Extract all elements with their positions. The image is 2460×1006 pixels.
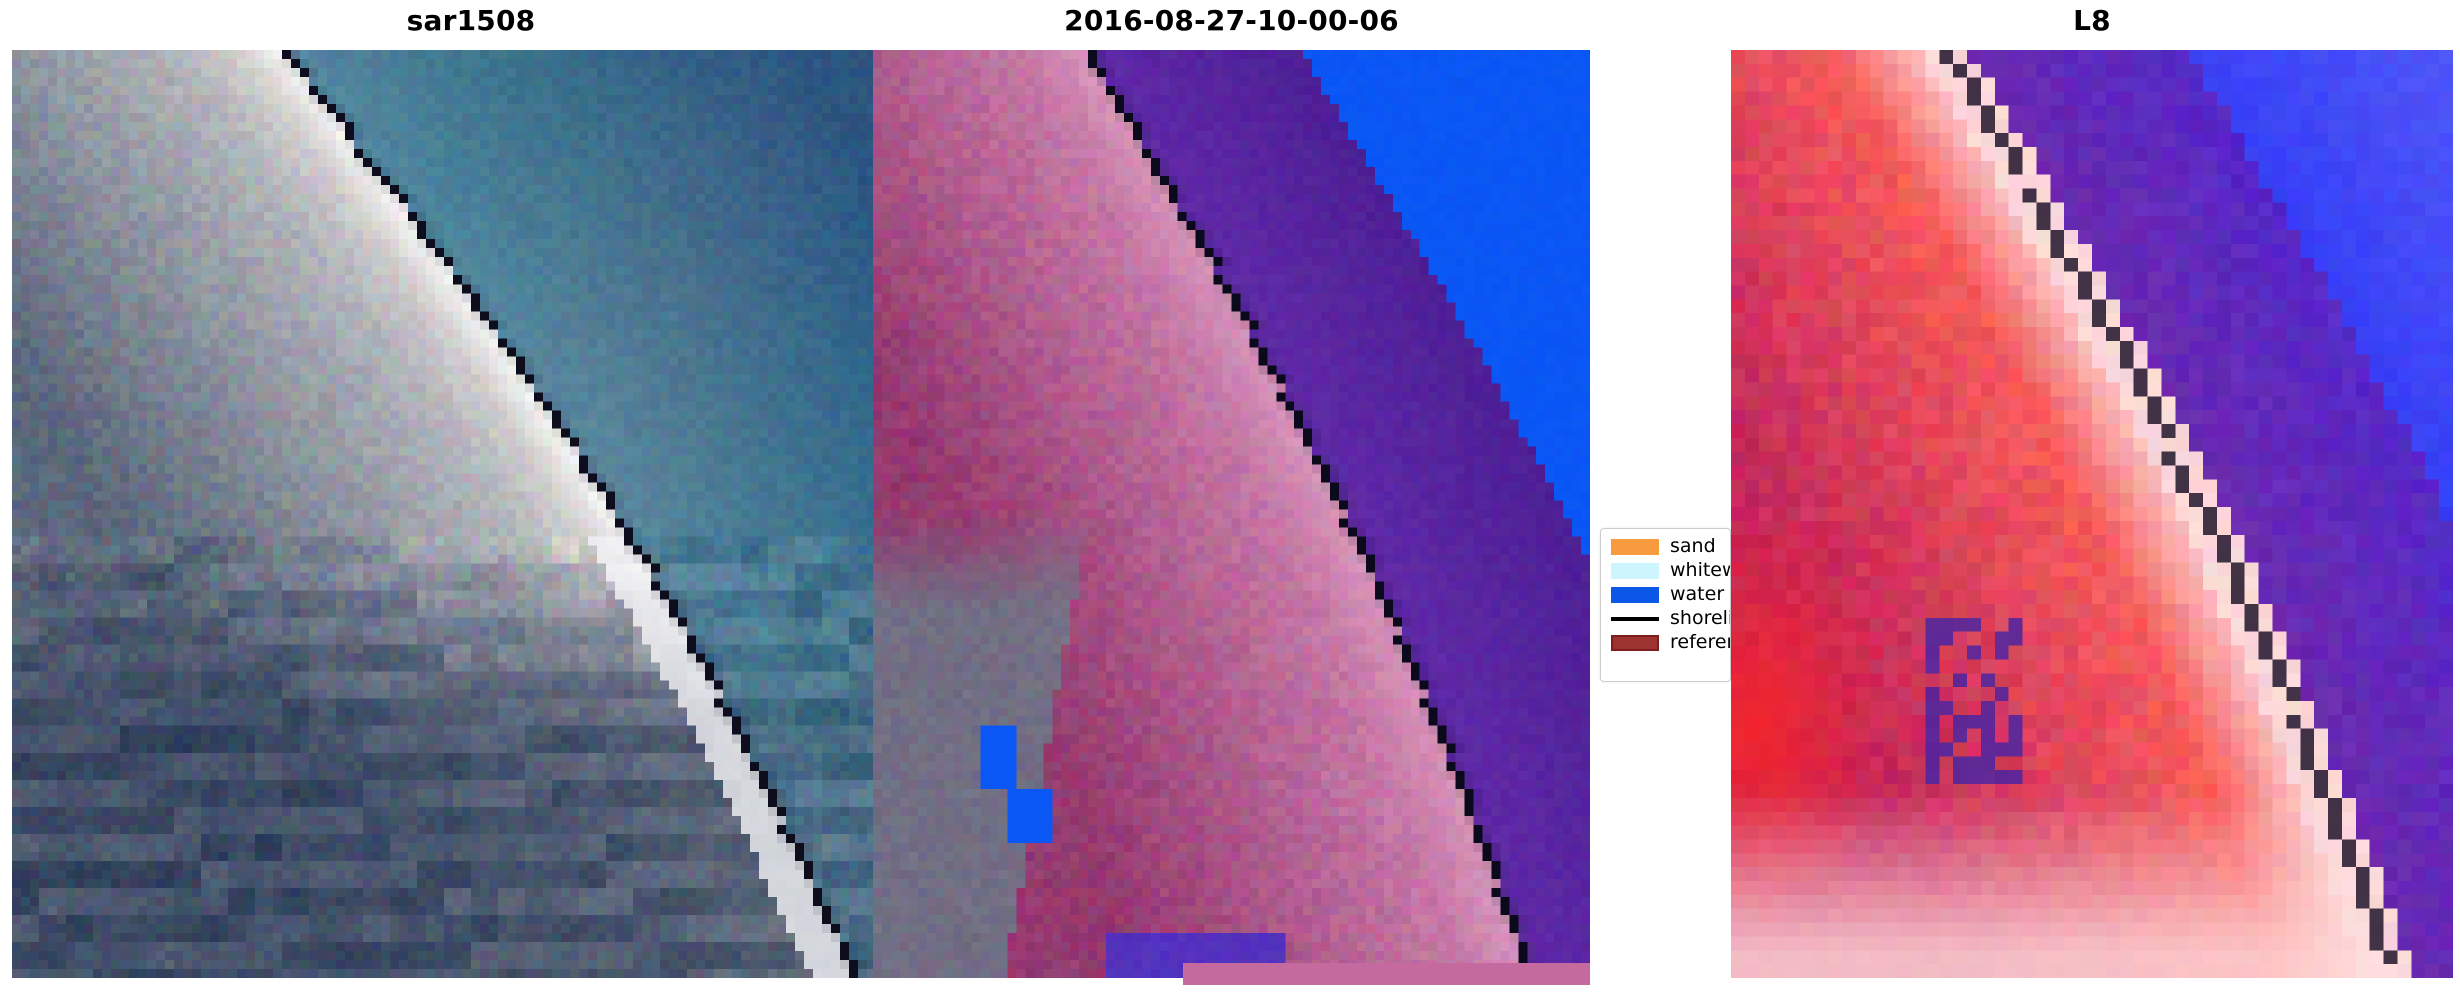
- whitewater-swatch-icon: [1611, 563, 1659, 579]
- legend-label-water: water: [1670, 585, 1724, 604]
- panel-sar-image[interactable]: [12, 50, 930, 978]
- legend-label-sand: sand: [1670, 537, 1716, 556]
- water-swatch-icon: [1611, 587, 1659, 603]
- legend-item-sand: sand: [1611, 537, 1730, 557]
- legend-item-reference: referen: [1611, 633, 1730, 653]
- panel-title-l8: L8: [1731, 5, 2453, 37]
- figure-canvas: sar1508 2016-08-27-10-00-06 L8 sand whit…: [0, 0, 2460, 1006]
- reference-swatch-icon: [1611, 635, 1659, 651]
- panel-classified-bottom-strip: [1183, 963, 1590, 985]
- panel-title-sar: sar1508: [12, 5, 930, 37]
- panel-l8-image[interactable]: [1731, 50, 2453, 978]
- sand-swatch-icon: [1611, 539, 1659, 555]
- panel-title-date: 2016-08-27-10-00-06: [873, 5, 1590, 37]
- legend-label-reference: referen: [1670, 633, 1731, 652]
- panel-classified-image[interactable]: [873, 50, 1590, 978]
- legend-label-whitewater: whitew: [1670, 561, 1731, 580]
- legend-box: sand whitew water shoreli referen: [1600, 528, 1731, 682]
- legend-item-water: water: [1611, 585, 1730, 605]
- legend-item-shoreline: shoreli: [1611, 609, 1730, 629]
- shoreline-line-icon: [1611, 617, 1659, 621]
- legend-item-whitewater: whitew: [1611, 561, 1730, 581]
- legend-label-shoreline: shoreli: [1670, 609, 1731, 628]
